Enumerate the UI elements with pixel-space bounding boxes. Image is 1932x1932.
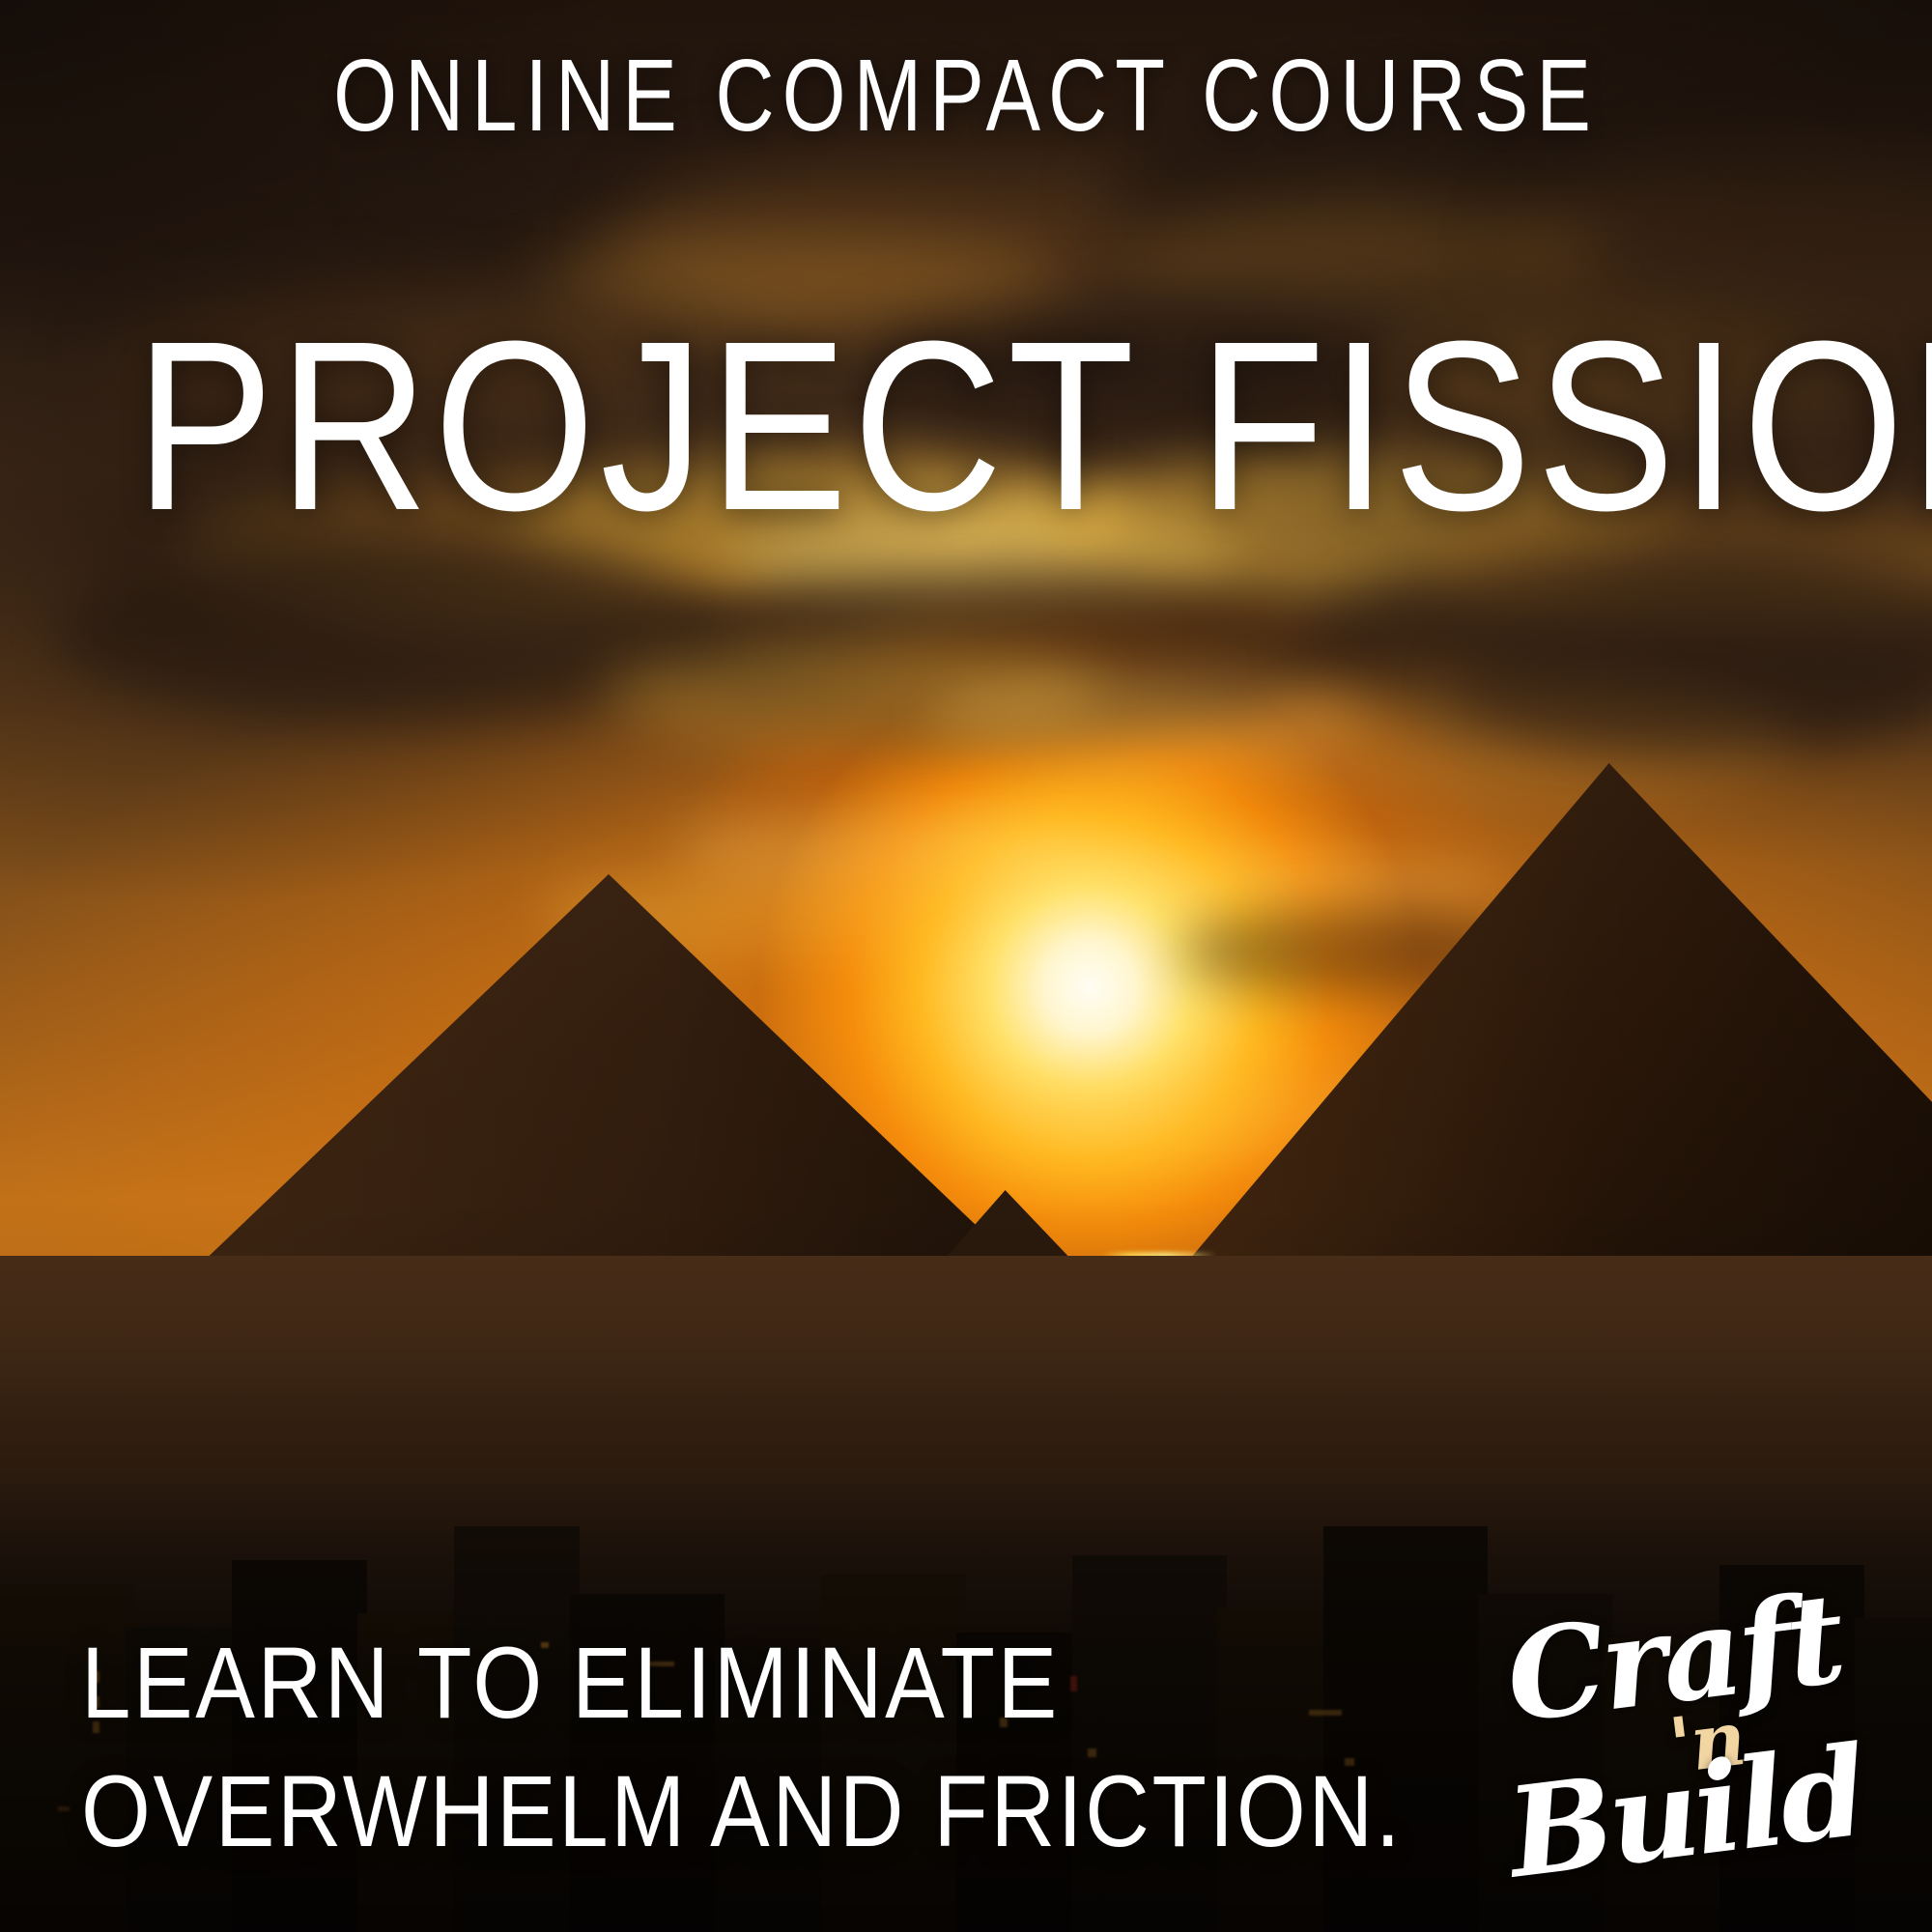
tagline-line-2: OVERWHELM AND FRICTION. (81, 1747, 1403, 1876)
poster-canvas: ONLINE COMPACT COURSE PROJECT FISSION LE… (0, 0, 1932, 1932)
course-kicker-text: ONLINE COMPACT COURSE (193, 44, 1739, 147)
brand-logo: Craft 'n Build (1489, 1551, 1931, 1927)
tagline-block: LEARN TO ELIMINATE OVERWHELM AND FRICTIO… (81, 1619, 1403, 1877)
logo-word-build: Build (1500, 1719, 1871, 1907)
course-title: PROJECT FISSION (135, 305, 1797, 547)
tagline-line-1: LEARN TO ELIMINATE (81, 1619, 1403, 1747)
